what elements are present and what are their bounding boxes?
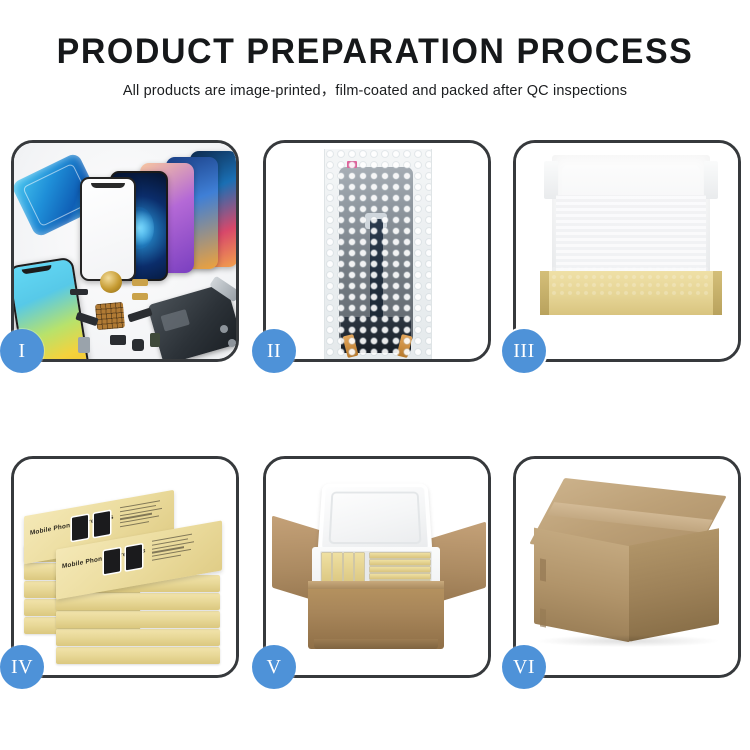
- phone-screen-1: [80, 177, 136, 281]
- box-print-screen-1: [72, 515, 88, 541]
- box-print-textlines: [120, 499, 166, 533]
- spare-part-a: [70, 289, 88, 295]
- panel-4-image: Mobile Phone Spare Parts Mobile Phone Sp…: [14, 459, 236, 675]
- panel-1-image: [14, 143, 236, 359]
- bubble-wrap-bag: [324, 149, 432, 359]
- process-panel-grid: I II III: [11, 140, 739, 680]
- box-print-screen-4: [126, 544, 142, 570]
- process-step-panel-5[interactable]: V: [263, 456, 491, 678]
- page-header: PRODUCT PREPARATION PROCESS All products…: [0, 0, 750, 102]
- process-step-panel-6[interactable]: VI: [513, 456, 741, 678]
- spare-part-h: [150, 333, 160, 347]
- box-stack: Mobile Phone Spare Parts Mobile Phone Sp…: [22, 483, 234, 663]
- stacked-box-right-2: [56, 593, 220, 610]
- tray-lip-left: [540, 271, 549, 315]
- step-badge-2: II: [252, 329, 296, 373]
- spare-part-f: [110, 335, 126, 345]
- packing-tape-seam-upper: [540, 558, 546, 581]
- panel-3-image: [516, 143, 738, 359]
- panel-5-image: [266, 459, 488, 675]
- box-print-textlines-2: [152, 533, 198, 567]
- coil-icon: [100, 271, 122, 293]
- spare-part-b: [132, 279, 148, 286]
- foam-sheet: [556, 195, 706, 271]
- carton-front-face: [534, 528, 630, 643]
- stacked-box-right-5: [56, 647, 220, 664]
- step-badge-4: IV: [0, 645, 44, 689]
- stacked-box-right-4: [56, 629, 220, 646]
- spare-part-c: [132, 293, 148, 300]
- panel-2-image: [266, 143, 488, 359]
- chip-grid-icon: [95, 302, 125, 330]
- box-print-screen-3: [104, 548, 120, 574]
- process-step-panel-2[interactable]: II: [263, 140, 491, 362]
- spare-part-g: [132, 339, 144, 351]
- tray-lip-right: [713, 271, 722, 315]
- styrofoam-lid: [317, 484, 432, 554]
- process-step-panel-3[interactable]: III: [513, 140, 741, 362]
- carton-side-face: [629, 528, 719, 641]
- panel-6-image: [516, 459, 738, 675]
- process-step-panel-1[interactable]: I: [11, 140, 239, 362]
- packing-tape-seam-lower: [540, 608, 546, 627]
- dark-foam-padding: [550, 265, 712, 295]
- stacked-box-right-3: [56, 611, 220, 628]
- process-step-panel-4[interactable]: Mobile Phone Spare Parts Mobile Phone Sp…: [11, 456, 239, 678]
- step-badge-3: III: [502, 329, 546, 373]
- step-badge-5: V: [252, 645, 296, 689]
- page-subtitle: All products are image-printed，film-coat…: [0, 80, 750, 102]
- screw-b: [228, 339, 236, 347]
- screw-a: [220, 325, 228, 333]
- bubble-texture: [325, 149, 431, 359]
- carton-shadow: [538, 635, 718, 647]
- step-badge-6: VI: [502, 645, 546, 689]
- kraft-carton-body: [308, 587, 444, 649]
- box-print-screen-2: [94, 511, 110, 537]
- step-badge-1: I: [0, 329, 44, 373]
- page-title: PRODUCT PREPARATION PROCESS: [11, 30, 739, 74]
- spare-part-i: [78, 337, 90, 353]
